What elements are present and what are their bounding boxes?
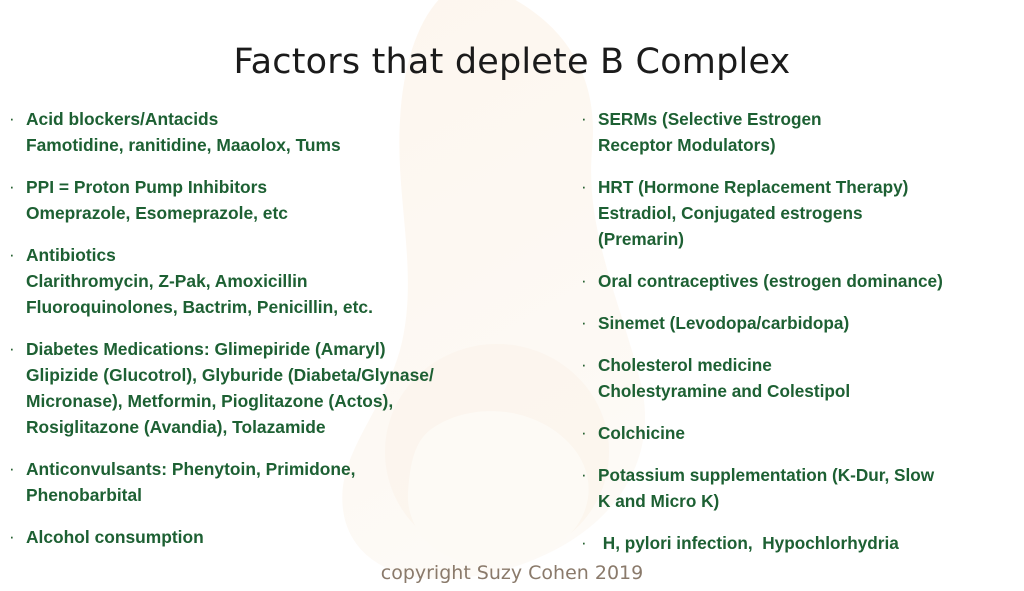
bullet-text-line: Sinemet (Levodopa/carbidopa) <box>598 310 1024 336</box>
bullet-item: ·AntibioticsClarithromycin, Z-Pak, Amoxi… <box>4 242 564 320</box>
bullet-text-block: Cholesterol medicineCholestyramine and C… <box>598 352 1024 404</box>
slide-canvas: Factors that deplete B Complex ·Acid blo… <box>0 0 1024 591</box>
bullet-text-line: Phenobarbital <box>26 482 564 508</box>
bullet-dot-icon: · <box>9 336 15 362</box>
bullet-item: ·Diabetes Medications: Glimepiride (Amar… <box>4 336 564 440</box>
bullet-item: ·Colchicine <box>575 420 1024 446</box>
bullet-dot-icon: · <box>9 174 15 200</box>
bullet-text-block: PPI = Proton Pump InhibitorsOmeprazole, … <box>26 174 564 226</box>
left-bullet-column: ·Acid blockers/AntacidsFamotidine, ranit… <box>4 106 564 566</box>
bullet-text-line: Colchicine <box>598 420 1024 446</box>
bullet-item: ·Alcohol consumption <box>4 524 564 550</box>
bullet-text-block: Diabetes Medications: Glimepiride (Amary… <box>26 336 564 440</box>
bullet-text-line: Micronase), Metformin, Pioglitazone (Act… <box>26 388 564 414</box>
bullet-text-line: Clarithromycin, Z-Pak, Amoxicillin <box>26 268 564 294</box>
bullet-text-line: Omeprazole, Esomeprazole, etc <box>26 200 564 226</box>
bullet-item: ·Acid blockers/AntacidsFamotidine, ranit… <box>4 106 564 158</box>
bullet-text-line: Rosiglitazone (Avandia), Tolazamide <box>26 414 564 440</box>
bullet-text-block: Anticonvulsants: Phenytoin, Primidone,Ph… <box>26 456 564 508</box>
bullet-dot-icon: · <box>581 174 587 200</box>
bullet-text-block: Alcohol consumption <box>26 524 564 550</box>
bullet-item: · H, pylori infection, Hypochlorhydria <box>575 530 1024 556</box>
bullet-text-line: Estradiol, Conjugated estrogens <box>598 200 1024 226</box>
bullet-text-block: Oral contraceptives (estrogen dominance) <box>598 268 1024 294</box>
bullet-text-line: PPI = Proton Pump Inhibitors <box>26 174 564 200</box>
bullet-text-line: Receptor Modulators) <box>598 132 1024 158</box>
bullet-text-line: Acid blockers/Antacids <box>26 106 564 132</box>
bullet-text-line: Famotidine, ranitidine, Maaolox, Tums <box>26 132 564 158</box>
bullet-text-block: AntibioticsClarithromycin, Z-Pak, Amoxic… <box>26 242 564 320</box>
bullet-text-line: (Premarin) <box>598 226 1024 252</box>
bullet-dot-icon: · <box>581 420 587 446</box>
bullet-text-line: HRT (Hormone Replacement Therapy) <box>598 174 1024 200</box>
bullet-text-line: Fluoroquinolones, Bactrim, Penicillin, e… <box>26 294 564 320</box>
bullet-item: ·HRT (Hormone Replacement Therapy)Estrad… <box>575 174 1024 252</box>
right-bullet-column: ·SERMs (Selective EstrogenReceptor Modul… <box>575 106 1024 572</box>
bullet-text-line: Cholestyramine and Colestipol <box>598 378 1024 404</box>
bullet-item: ·Potassium supplementation (K-Dur, SlowK… <box>575 462 1024 514</box>
bullet-dot-icon: · <box>9 456 15 482</box>
bullet-text-block: Potassium supplementation (K-Dur, SlowK … <box>598 462 1024 514</box>
bullet-dot-icon: · <box>581 268 587 294</box>
bullet-text-line: Cholesterol medicine <box>598 352 1024 378</box>
bullet-text-block: SERMs (Selective EstrogenReceptor Modula… <box>598 106 1024 158</box>
bullet-dot-icon: · <box>581 530 587 556</box>
bullet-text-line: Potassium supplementation (K-Dur, Slow <box>598 462 1024 488</box>
bullet-dot-icon: · <box>581 462 587 488</box>
bullet-dot-icon: · <box>581 106 587 132</box>
bullet-item: ·Cholesterol medicineCholestyramine and … <box>575 352 1024 404</box>
bullet-text-line: Alcohol consumption <box>26 524 564 550</box>
bullet-dot-icon: · <box>9 242 15 268</box>
content-columns: ·Acid blockers/AntacidsFamotidine, ranit… <box>0 0 1024 591</box>
bullet-item: ·Sinemet (Levodopa/carbidopa) <box>575 310 1024 336</box>
copyright-notice: copyright Suzy Cohen 2019 <box>0 562 1024 584</box>
bullet-dot-icon: · <box>581 352 587 378</box>
bullet-text-block: H, pylori infection, Hypochlorhydria <box>598 530 1024 556</box>
bullet-text-line: Diabetes Medications: Glimepiride (Amary… <box>26 336 564 362</box>
bullet-text-line: Glipizide (Glucotrol), Glyburide (Diabet… <box>26 362 564 388</box>
bullet-text-line: H, pylori infection, Hypochlorhydria <box>598 530 1024 556</box>
bullet-text-block: Acid blockers/AntacidsFamotidine, raniti… <box>26 106 564 158</box>
bullet-text-line: Oral contraceptives (estrogen dominance) <box>598 268 1024 294</box>
bullet-dot-icon: · <box>9 524 15 550</box>
bullet-item: ·Oral contraceptives (estrogen dominance… <box>575 268 1024 294</box>
bullet-text-line: SERMs (Selective Estrogen <box>598 106 1024 132</box>
bullet-dot-icon: · <box>9 106 15 132</box>
bullet-item: ·SERMs (Selective EstrogenReceptor Modul… <box>575 106 1024 158</box>
bullet-text-block: Colchicine <box>598 420 1024 446</box>
bullet-item: ·PPI = Proton Pump InhibitorsOmeprazole,… <box>4 174 564 226</box>
bullet-text-block: Sinemet (Levodopa/carbidopa) <box>598 310 1024 336</box>
bullet-item: ·Anticonvulsants: Phenytoin, Primidone,P… <box>4 456 564 508</box>
bullet-text-line: Antibiotics <box>26 242 564 268</box>
bullet-dot-icon: · <box>581 310 587 336</box>
bullet-text-line: Anticonvulsants: Phenytoin, Primidone, <box>26 456 564 482</box>
bullet-text-line: K and Micro K) <box>598 488 1024 514</box>
bullet-text-block: HRT (Hormone Replacement Therapy)Estradi… <box>598 174 1024 252</box>
